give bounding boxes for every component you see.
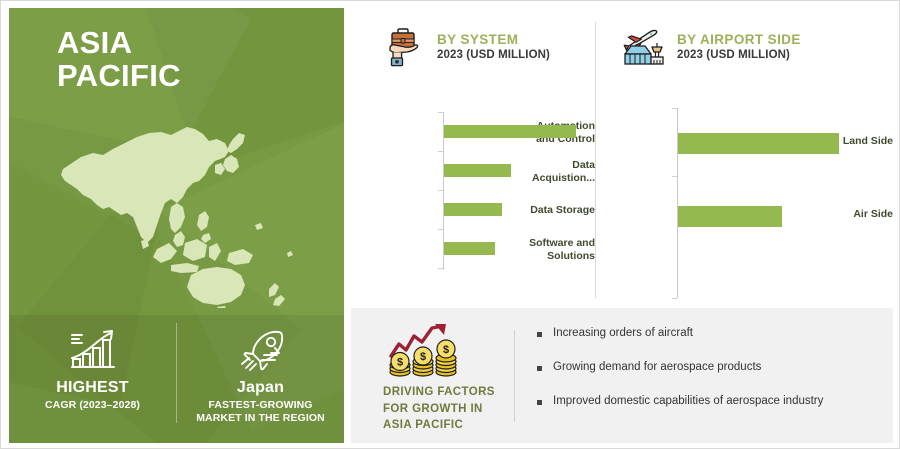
bar-label-line: Solutions: [547, 250, 595, 262]
coin-stacks-growth-arrow-icon: $ $: [385, 322, 463, 378]
driving-factors-title-line1: DRIVING FACTORS: [383, 384, 513, 401]
chart-header: BY AIRPORT SIDE 2023 (USD MILLION): [621, 24, 801, 70]
driving-factors-heading-block: $ $: [383, 322, 513, 434]
stat-subtitle: FASTEST-GROWING MARKET IN THE REGION: [196, 399, 325, 425]
axis-tick: [438, 151, 443, 152]
stat-headline: HIGHEST: [56, 379, 129, 397]
list-item: Improved domestic capabilities of aerosp…: [537, 394, 883, 409]
growth-bar-chart-arrow-icon: [66, 327, 120, 373]
stat-subtitle-line2: MARKET IN THE REGION: [196, 412, 325, 424]
driving-factors-title: DRIVING FACTORS FOR GROWTH IN ASIA PACIF…: [383, 384, 513, 434]
bar-label-line: Acquistion...: [532, 172, 595, 184]
list-item-label: Growing demand for aerospace products: [553, 360, 761, 375]
bar-label: Software and Solutions: [509, 237, 595, 263]
chart-subtitle: 2023 (USD MILLION): [677, 49, 801, 62]
bar-data-storage: [444, 203, 502, 216]
svg-text:$: $: [443, 344, 449, 356]
airplane-airport-terminal-icon: [621, 24, 667, 70]
region-stats-strip: HIGHEST CAGR (2023–2028): [9, 315, 344, 443]
hand-holding-briefcase-icon: [381, 24, 427, 70]
axis-tick: [438, 190, 443, 191]
chart-header-text: BY SYSTEM 2023 (USD MILLION): [437, 32, 550, 62]
bar-label: Air Side: [823, 208, 893, 221]
bar-air-side: [678, 206, 782, 227]
bar-label: Data Acquistion...: [509, 159, 595, 185]
stat-subtitle-line1: FASTEST-GROWING: [208, 399, 312, 411]
stat-fastest-growing-market: Japan FASTEST-GROWING MARKET IN THE REGI…: [177, 315, 344, 425]
chart-by-system: BY SYSTEM 2023 (USD MILLION) Automation …: [351, 8, 595, 306]
axis-tick: [672, 108, 677, 109]
bullet-icon: [537, 332, 542, 337]
region-title-line2: PACIFIC: [57, 59, 181, 92]
bullet-icon: [537, 400, 542, 405]
region-title: ASIA PACIFIC: [57, 26, 181, 93]
axis-tick: [672, 176, 677, 177]
stat-subtitle: CAGR (2023–2028): [45, 399, 140, 412]
driving-factors-area: $ $: [351, 308, 893, 443]
chart-subtitle: 2023 (USD MILLION): [437, 49, 550, 62]
infographic-root: ASIA PACIFIC: [0, 0, 900, 449]
bar-software-and-solutions: [444, 242, 495, 255]
bar-label-line: Software and: [529, 237, 595, 249]
chart-plot-by-airport-side: Land Side Air Side: [601, 108, 893, 280]
asia-pacific-map-icon: [37, 103, 327, 308]
chart-header-text: BY AIRPORT SIDE 2023 (USD MILLION): [677, 32, 801, 62]
region-title-line1: ASIA: [57, 26, 181, 59]
bar-land-side: [678, 133, 839, 154]
axis-tick: [438, 268, 443, 269]
bar-label-line: Data: [572, 159, 595, 171]
driving-factors-divider: [514, 330, 515, 422]
bar-data-acquisition: [444, 164, 511, 177]
axis-tick: [438, 229, 443, 230]
bar-label-line: Land Side: [843, 135, 893, 147]
svg-text:$: $: [420, 351, 426, 363]
region-panel: ASIA PACIFIC: [9, 8, 344, 443]
chart-plot-by-system: Automation and Control Data Acquistion..…: [351, 108, 595, 280]
chart-title: BY SYSTEM: [437, 32, 550, 48]
driving-factors-list: Increasing orders of aircraft Growing de…: [537, 326, 883, 428]
charts-area: BY SYSTEM 2023 (USD MILLION) Automation …: [351, 8, 893, 306]
stat-headline: Japan: [237, 379, 284, 397]
list-item: Growing demand for aerospace products: [537, 360, 883, 375]
charts-vertical-divider: [595, 22, 596, 298]
axis-tick: [438, 112, 443, 113]
bar-label-line: Air Side: [853, 208, 893, 220]
bar-label: Data Storage: [509, 204, 595, 217]
bar-automation-and-control: [444, 125, 576, 138]
chart-header: BY SYSTEM 2023 (USD MILLION): [381, 24, 550, 70]
axis-tick: [672, 298, 677, 299]
driving-factors-title-line2: FOR GROWTH IN: [383, 401, 513, 418]
driving-factors-title-line3: ASIA PACIFIC: [383, 417, 513, 434]
chart-title: BY AIRPORT SIDE: [677, 32, 801, 48]
bullet-icon: [537, 366, 542, 371]
list-item-label: Increasing orders of aircraft: [553, 326, 693, 341]
list-item: Increasing orders of aircraft: [537, 326, 883, 341]
stat-highest-cagr: HIGHEST CAGR (2023–2028): [9, 315, 176, 412]
rocket-launch-icon: [233, 327, 289, 373]
chart-by-airport-side: BY AIRPORT SIDE 2023 (USD MILLION) Land …: [601, 8, 893, 306]
svg-text:$: $: [397, 357, 403, 369]
list-item-label: Improved domestic capabilities of aerosp…: [553, 394, 823, 409]
bar-label-line: Data Storage: [530, 204, 595, 216]
